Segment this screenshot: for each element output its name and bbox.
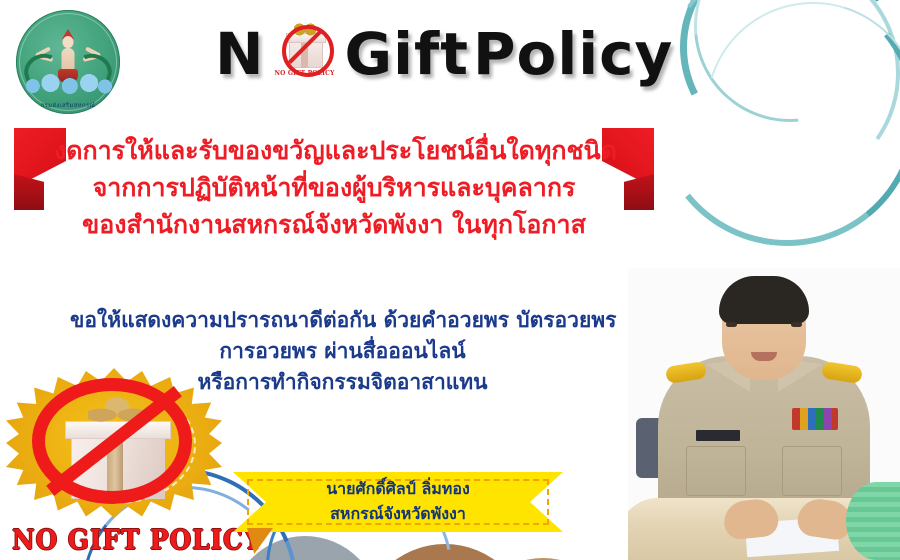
banner-left-tail-fold: [14, 174, 44, 210]
service-ribbon-bar: [792, 408, 838, 430]
emblem-caption: กรมส่งเสริมสหกรณ์: [16, 100, 120, 110]
page-title: N NO GIFT POLICY Gift Policy: [215, 12, 735, 96]
deity-head: [63, 36, 74, 48]
blue-message-line-2: การอวยพร ผ่านสื่อออนไลน์: [70, 336, 615, 367]
no-gift-policy-caption: NO GIFT POLICY: [12, 525, 262, 556]
no-gift-icon: NO GIFT POLICY: [271, 21, 339, 87]
yellow-ribbon-banner: นายศักดิ์ศิลป์ ลิ่มทอง สหกรณ์จังหวัดพังง…: [233, 472, 563, 532]
red-banner-line-3: ของสำนักงานสหกรณ์จังหวัดพังงา ในทุกโอกาส: [54, 206, 614, 243]
hair: [719, 276, 809, 324]
name-badge: [696, 430, 740, 441]
title-word-n: N: [215, 25, 265, 83]
title-word-gift: Gift: [345, 25, 469, 83]
no-gift-badge: [6, 368, 222, 528]
blue-message-line-1: ขอให้แสดงความปรารถนาดีต่อกัน ด้วยคำอวยพร…: [70, 305, 615, 336]
banner-right-tail-fold: [624, 174, 654, 210]
gift-box-icon: [282, 25, 328, 69]
title-word-policy: Policy: [473, 25, 673, 83]
prohibition-circle-icon: [282, 25, 334, 77]
wave-pattern: [24, 74, 112, 94]
eye-left: [726, 322, 737, 327]
signatory-name: นายศักดิ์ศิลป์ ลิ่มทอง: [233, 476, 563, 501]
eye-right: [791, 322, 802, 327]
no-gift-policy-poster: กรมส่งเสริมสหกรณ์ N NO GIFT POLICY Gift …: [0, 0, 900, 560]
red-banner-text: งดการให้และรับของขวัญและประโยชน์อื่นใดทุ…: [54, 132, 614, 243]
shirt-pocket-left: [686, 446, 746, 496]
official-portrait: [628, 268, 900, 560]
signatory-title: สหกรณ์จังหวัดพังงา: [233, 501, 563, 526]
red-banner: งดการให้และรับของขวัญและประโยชน์อื่นใดทุ…: [14, 128, 654, 268]
green-object: [846, 482, 900, 560]
red-banner-line-1: งดการให้และรับของขวัญและประโยชน์อื่นใดทุ…: [54, 132, 614, 169]
yellow-ribbon-text: นายศักดิ์ศิลป์ ลิ่มทอง สหกรณ์จังหวัดพังง…: [233, 476, 563, 526]
red-banner-line-2: จากการปฏิบัติหน้าที่ของผู้บริหารและบุคลา…: [54, 169, 614, 206]
shirt-pocket-right: [782, 446, 842, 496]
cooperative-department-emblem: กรมส่งเสริมสหกรณ์: [16, 10, 120, 114]
brown-circle-decoration: [360, 544, 530, 560]
